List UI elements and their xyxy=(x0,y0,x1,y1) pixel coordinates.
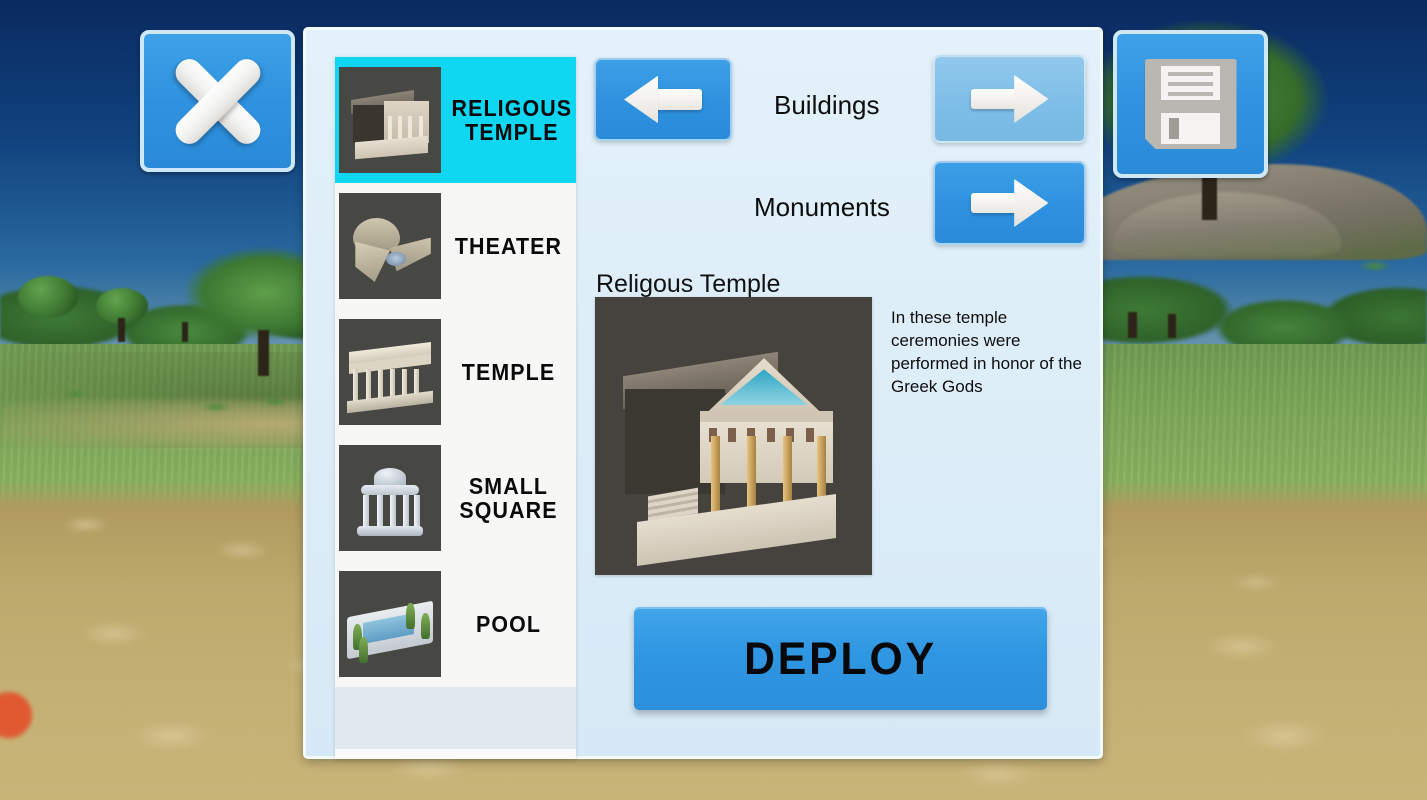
bush xyxy=(196,400,236,414)
list-item-temple[interactable]: TEMPLE xyxy=(335,309,576,435)
category-label-monuments: Monuments xyxy=(754,192,890,223)
building-list[interactable]: RELIGOUS TEMPLE THEATER xyxy=(335,57,576,759)
list-item-label: SMALL SQUARE xyxy=(446,474,572,522)
monuments-forward-button[interactable] xyxy=(933,161,1086,245)
tree-trunk xyxy=(258,330,269,376)
bush xyxy=(62,388,88,400)
pool-thumb xyxy=(339,571,441,677)
arrow-right-icon xyxy=(971,75,1049,123)
buildings-forward-button[interactable] xyxy=(933,55,1086,143)
theater-thumb xyxy=(339,193,441,299)
list-item-small-square[interactable]: SMALL SQUARE xyxy=(335,435,576,561)
small-square-thumb xyxy=(339,445,441,551)
deploy-button[interactable]: DEPLOY xyxy=(634,607,1047,710)
bush xyxy=(1352,258,1398,274)
tree-trunk xyxy=(182,322,188,342)
floppy-disk-save-icon xyxy=(1145,59,1237,149)
bush xyxy=(258,396,292,408)
category-label-buildings: Buildings xyxy=(774,90,880,121)
list-item-pool[interactable]: POOL xyxy=(335,561,576,687)
religious-temple-preview xyxy=(595,297,872,575)
temple-thumb xyxy=(339,319,441,425)
tree xyxy=(18,276,78,318)
list-item-label: POOL xyxy=(446,612,572,636)
tree-trunk xyxy=(118,318,125,342)
list-item-religous-temple[interactable]: RELIGOUS TEMPLE xyxy=(335,57,576,183)
back-button[interactable] xyxy=(594,58,732,141)
tree-trunk xyxy=(1168,314,1176,338)
list-empty-tail xyxy=(335,687,576,749)
building-selection-panel: RELIGOUS TEMPLE THEATER xyxy=(303,27,1103,759)
list-item-label: THEATER xyxy=(446,234,572,258)
list-item-label: RELIGOUS TEMPLE xyxy=(446,96,576,144)
deploy-button-label: DEPLOY xyxy=(744,633,937,685)
arrow-left-icon xyxy=(624,76,702,124)
list-item-theater[interactable]: THEATER xyxy=(335,183,576,309)
arrow-right-icon xyxy=(971,179,1049,227)
religious-temple-thumb xyxy=(339,67,441,173)
close-x-icon xyxy=(170,53,266,149)
list-item-label: TEMPLE xyxy=(446,360,572,384)
detail-description: In these temple ceremonies were performe… xyxy=(891,306,1095,398)
tree-trunk xyxy=(1128,312,1137,338)
close-button[interactable] xyxy=(140,30,295,172)
save-button[interactable] xyxy=(1113,30,1268,178)
detail-title: Religous Temple xyxy=(596,270,780,299)
